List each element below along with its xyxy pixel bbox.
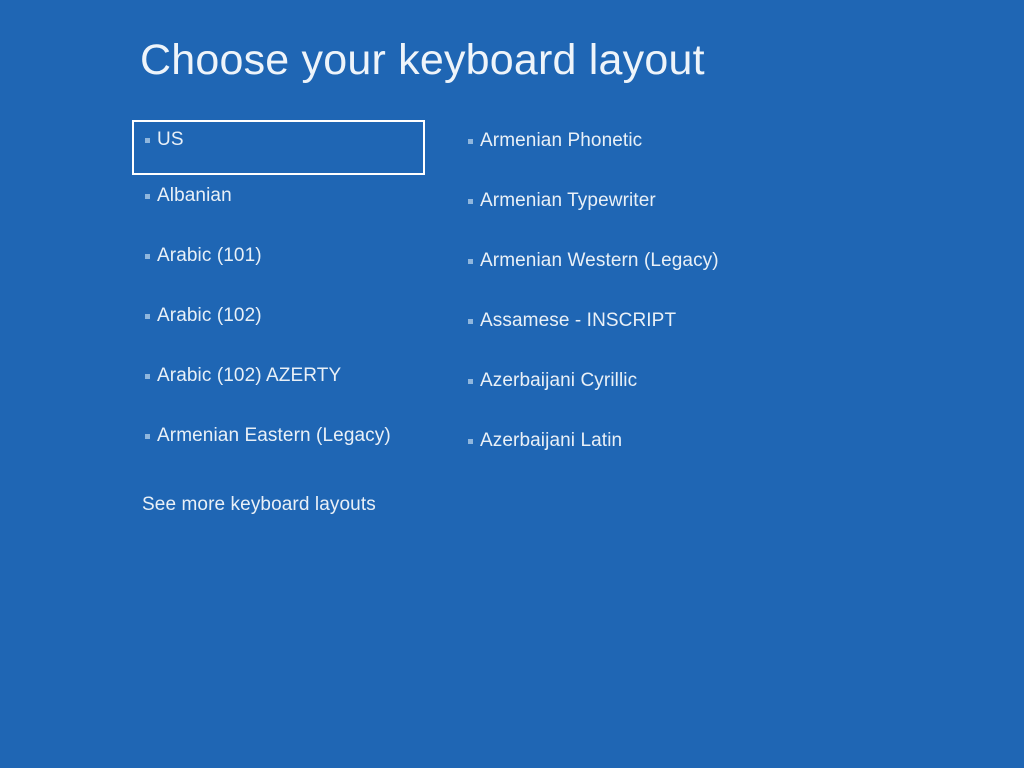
keyboard-layout-option-label: Armenian Phonetic — [480, 130, 642, 152]
keyboard-layout-option-label: Armenian Western (Legacy) — [480, 250, 719, 272]
bullet-dot-icon — [468, 139, 473, 144]
keyboard-layout-option[interactable]: Arabic (101) — [132, 235, 432, 295]
bullet-dot-icon — [468, 379, 473, 384]
keyboard-layout-option-label: Albanian — [157, 185, 232, 207]
bullet-dot-icon — [468, 319, 473, 324]
keyboard-layout-option[interactable]: Armenian Typewriter — [455, 180, 775, 240]
keyboard-layout-option-label: Armenian Eastern (Legacy) — [157, 425, 391, 447]
bullet-dot-icon — [145, 138, 150, 143]
keyboard-layout-list-right: Armenian PhoneticArmenian TypewriterArme… — [455, 120, 775, 480]
keyboard-layout-option-label: Armenian Typewriter — [480, 190, 656, 212]
keyboard-layout-option[interactable]: Armenian Western (Legacy) — [455, 240, 775, 300]
keyboard-layout-option-label: Arabic (101) — [157, 245, 262, 267]
keyboard-layout-option[interactable]: US — [132, 120, 425, 175]
bullet-dot-icon — [468, 199, 473, 204]
bullet-dot-icon — [468, 259, 473, 264]
keyboard-layout-option-label: Arabic (102) — [157, 305, 262, 327]
keyboard-layout-option-label: Arabic (102) AZERTY — [157, 365, 341, 387]
keyboard-layout-option[interactable]: Azerbaijani Latin — [455, 420, 775, 480]
bullet-dot-icon — [145, 314, 150, 319]
see-more-keyboard-layouts-link[interactable]: See more keyboard layouts — [142, 494, 376, 516]
keyboard-layout-screen: Choose your keyboard layout USAlbanianAr… — [0, 0, 1024, 768]
keyboard-layout-option-label: Assamese - INSCRIPT — [480, 310, 676, 332]
bullet-dot-icon — [145, 374, 150, 379]
keyboard-layout-option-label: Azerbaijani Cyrillic — [480, 370, 637, 392]
keyboard-layout-option[interactable]: Armenian Phonetic — [455, 120, 775, 180]
keyboard-layout-option[interactable]: Arabic (102) — [132, 295, 432, 355]
bullet-dot-icon — [145, 194, 150, 199]
bullet-dot-icon — [468, 439, 473, 444]
keyboard-layout-list-left: USAlbanianArabic (101)Arabic (102)Arabic… — [132, 120, 432, 475]
keyboard-layout-option[interactable]: Albanian — [132, 175, 432, 235]
keyboard-layout-option[interactable]: Arabic (102) AZERTY — [132, 355, 432, 415]
keyboard-layout-option-label: Azerbaijani Latin — [480, 430, 622, 452]
bullet-dot-icon — [145, 434, 150, 439]
keyboard-layout-option[interactable]: Azerbaijani Cyrillic — [455, 360, 775, 420]
keyboard-layout-option[interactable]: Armenian Eastern (Legacy) — [132, 415, 432, 475]
page-title: Choose your keyboard layout — [140, 36, 705, 85]
bullet-dot-icon — [145, 254, 150, 259]
keyboard-layout-option[interactable]: Assamese - INSCRIPT — [455, 300, 775, 360]
keyboard-layout-option-label: US — [157, 129, 184, 151]
